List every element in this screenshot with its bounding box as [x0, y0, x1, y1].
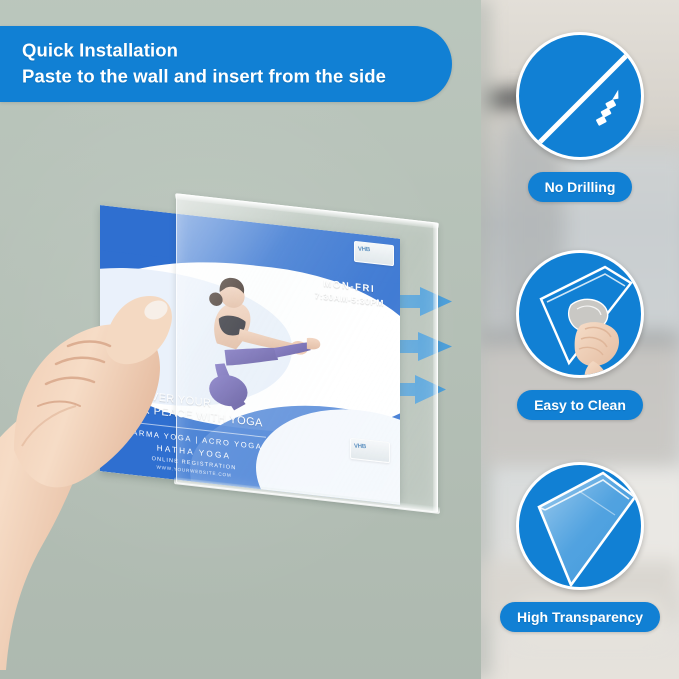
- feature-column: No Drilling: [481, 0, 679, 679]
- product-infographic: VHB VHB MON-FRI 7:30AM-5:30PM: [0, 0, 679, 679]
- feature-label-high-transparency: High Transparency: [500, 602, 660, 632]
- wiping-cloth-icon: [516, 250, 644, 378]
- feature-label-easy-to-clean: Easy to Clean: [517, 390, 643, 420]
- clear-acrylic-sheet-icon: [516, 462, 644, 590]
- hand-illustration: [0, 150, 208, 670]
- header-banner-text: Quick Installation Paste to the wall and…: [22, 38, 386, 91]
- installation-scene: VHB VHB MON-FRI 7:30AM-5:30PM: [0, 0, 481, 679]
- feature-no-drilling: No Drilling: [481, 32, 679, 202]
- feature-label-no-drilling: No Drilling: [528, 172, 633, 202]
- no-drilling-icon: [516, 32, 644, 160]
- feature-high-transparency: High Transparency: [481, 462, 679, 632]
- header-banner: Quick Installation Paste to the wall and…: [0, 26, 452, 102]
- banner-subtitle: Paste to the wall and insert from the si…: [22, 64, 386, 90]
- feature-easy-to-clean: Easy to Clean: [481, 250, 679, 420]
- banner-title: Quick Installation: [22, 38, 386, 64]
- acrylic-panel: [176, 193, 438, 512]
- acrylic-gloss: [177, 194, 437, 511]
- acrylic-right-edge: [433, 223, 438, 512]
